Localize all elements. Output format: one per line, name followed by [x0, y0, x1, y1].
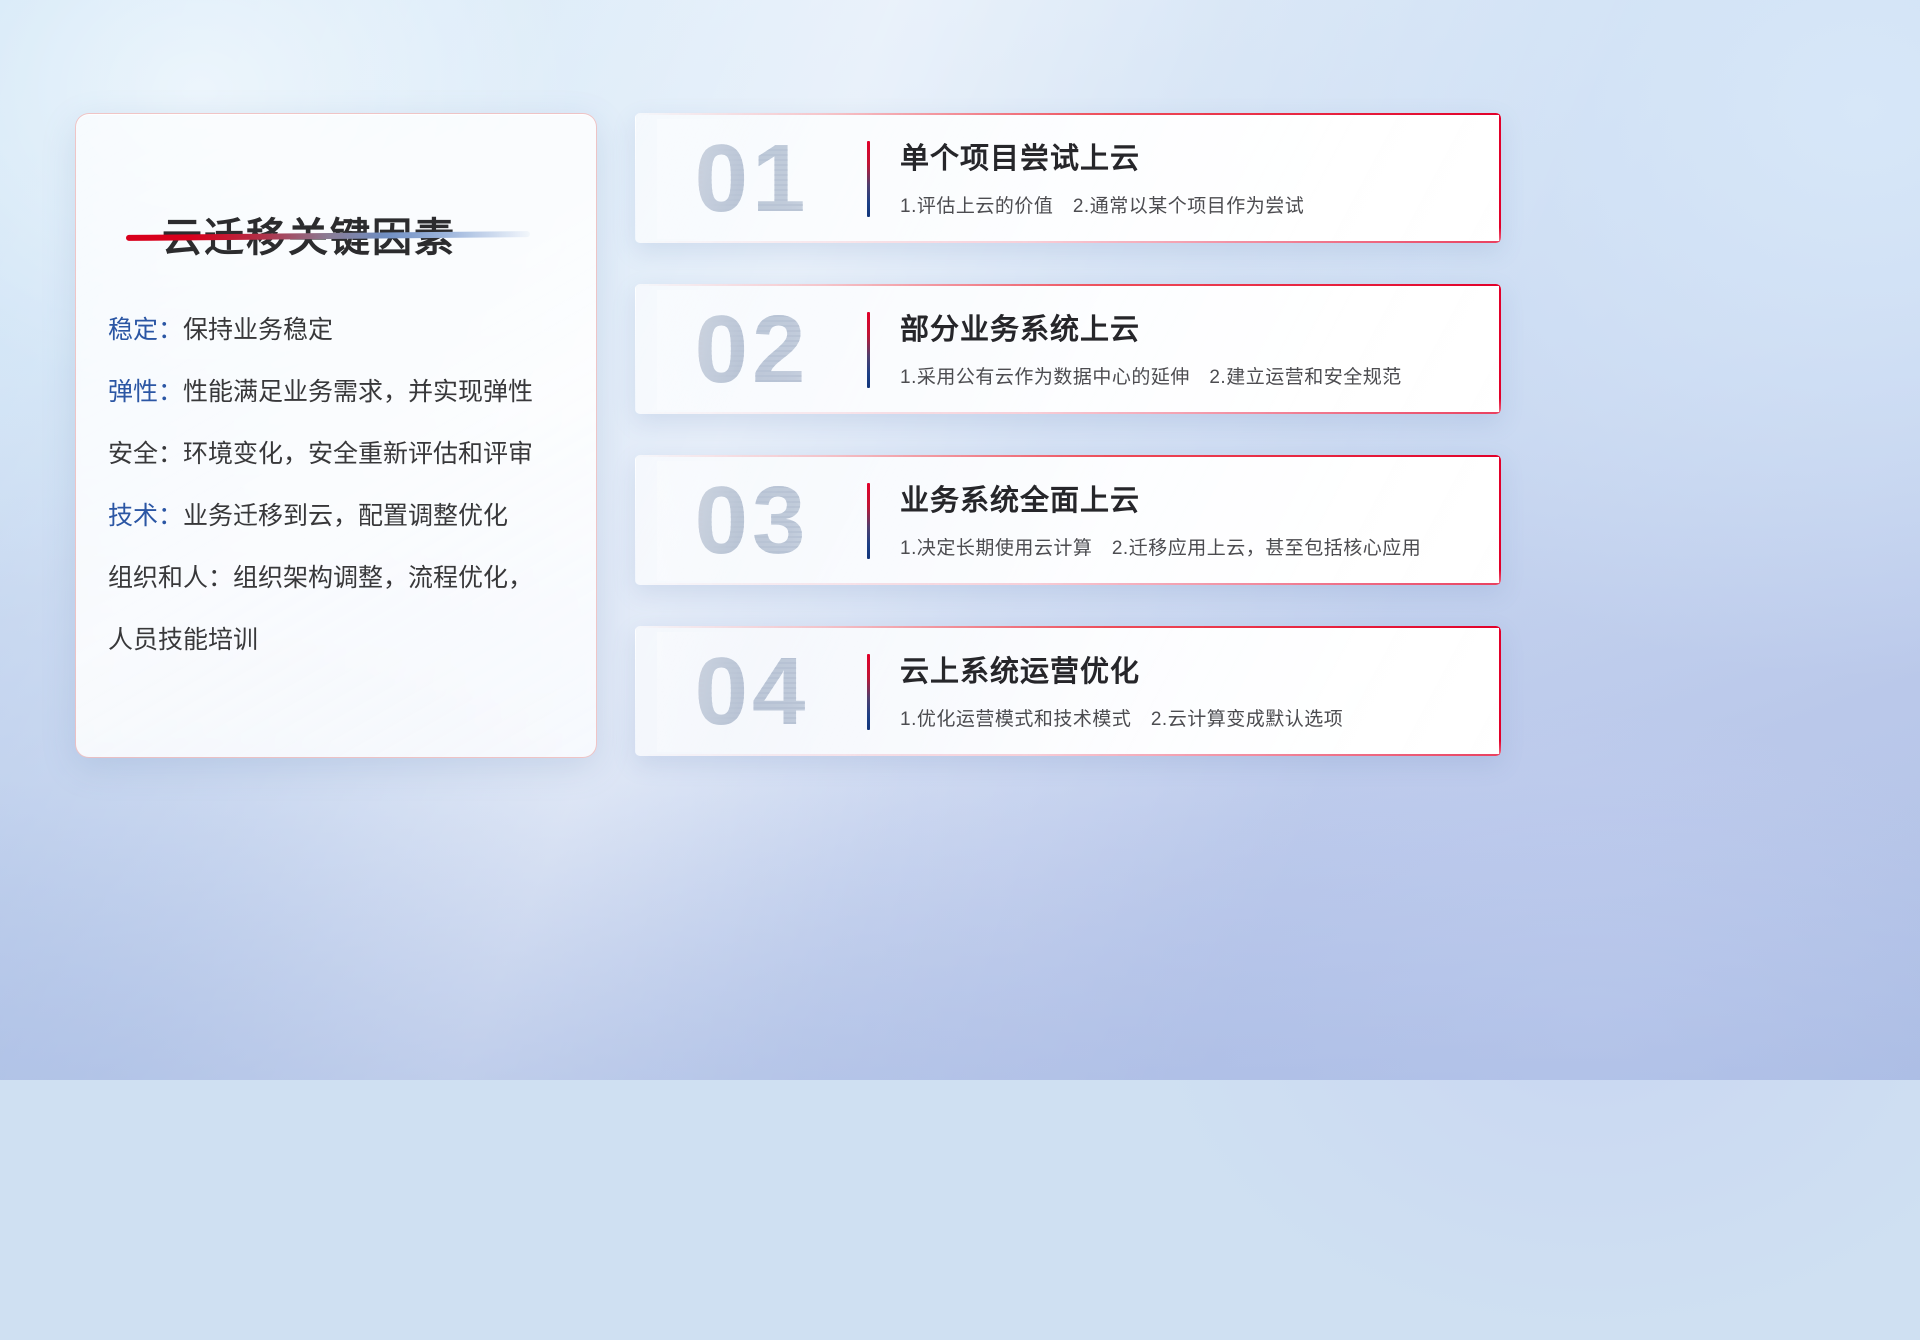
- card-top-accent: [635, 284, 1501, 286]
- list-item-text: 保持业务稳定: [183, 316, 333, 344]
- card-title: 单个项目尝试上云: [900, 135, 1140, 177]
- key-factors-panel: 云迁移关键因素 稳定：保持业务稳定 弹性：性能满足业务需求，并实现弹性 安全：环…: [75, 113, 597, 758]
- card-description: 1.采用公有云作为数据中心的延伸 2.建立运营和安全规范: [900, 362, 1402, 389]
- card-top-accent: [635, 455, 1501, 457]
- list-item-label: 组织和人：: [108, 564, 233, 592]
- list-item: 技术：业务迁移到云，配置调整优化: [108, 485, 574, 547]
- stage-card-02[interactable]: 02 部分业务系统上云 1.采用公有云作为数据中心的延伸 2.建立运营和安全规范: [635, 284, 1501, 414]
- card-bottom-accent: [635, 241, 1501, 243]
- stage-number-watermark: 02: [657, 290, 847, 410]
- list-item-label: 技术：: [108, 502, 183, 530]
- list-item-text: 性能满足业务需求，并实现弹性: [183, 378, 533, 406]
- stage-number-watermark: 03: [657, 461, 847, 581]
- card-title: 业务系统全面上云: [900, 477, 1140, 519]
- list-item-text: 环境变化，安全重新评估和评审: [183, 440, 533, 468]
- card-bottom-accent: [635, 412, 1501, 414]
- list-item: 组织和人：组织架构调整，流程优化，: [108, 547, 574, 609]
- list-item-label: 稳定：: [108, 316, 183, 344]
- list-item-text: 组织架构调整，流程优化，: [233, 564, 533, 592]
- stage-number-watermark: 01: [657, 119, 847, 239]
- stage-card-04[interactable]: 04 云上系统运营优化 1.优化运营模式和技术模式 2.云计算变成默认选项: [635, 626, 1501, 756]
- migration-stage-cards: 01 单个项目尝试上云 1.评估上云的价值 2.通常以某个项目作为尝试 02 部…: [635, 113, 1501, 797]
- stage-number-watermark: 04: [657, 632, 847, 752]
- list-item-label: 弹性：: [108, 378, 183, 406]
- card-right-accent: [1499, 113, 1501, 243]
- list-item: 安全：环境变化，安全重新评估和评审: [108, 423, 574, 485]
- card-title: 云上系统运营优化: [900, 648, 1140, 690]
- card-left-edge: [635, 626, 636, 756]
- card-right-accent: [1499, 626, 1501, 756]
- card-divider-bar: [867, 141, 870, 217]
- list-item-continuation: 人员技能培训: [108, 609, 574, 671]
- card-left-edge: [635, 284, 636, 414]
- card-bottom-accent: [635, 583, 1501, 585]
- list-item-text: 人员技能培训: [108, 626, 258, 654]
- stage-card-01[interactable]: 01 单个项目尝试上云 1.评估上云的价值 2.通常以某个项目作为尝试: [635, 113, 1501, 243]
- stage-card-03[interactable]: 03 业务系统全面上云 1.决定长期使用云计算 2.迁移应用上云，甚至包括核心应…: [635, 455, 1501, 585]
- background-bottom-band: [0, 780, 1920, 1080]
- card-right-accent: [1499, 455, 1501, 585]
- list-item-text: 业务迁移到云，配置调整优化: [183, 502, 508, 530]
- card-left-edge: [635, 113, 636, 243]
- card-divider-bar: [867, 654, 870, 730]
- list-item: 弹性：性能满足业务需求，并实现弹性: [108, 361, 574, 423]
- card-top-accent: [635, 626, 1501, 628]
- list-item-label: 安全：: [108, 440, 183, 468]
- card-description: 1.评估上云的价值 2.通常以某个项目作为尝试: [900, 191, 1304, 218]
- card-right-accent: [1499, 284, 1501, 414]
- card-divider-bar: [867, 312, 870, 388]
- card-divider-bar: [867, 483, 870, 559]
- card-description: 1.优化运营模式和技术模式 2.云计算变成默认选项: [900, 704, 1343, 731]
- key-factors-list: 稳定：保持业务稳定 弹性：性能满足业务需求，并实现弹性 安全：环境变化，安全重新…: [108, 299, 574, 671]
- card-description: 1.决定长期使用云计算 2.迁移应用上云，甚至包括核心应用: [900, 533, 1421, 560]
- card-left-edge: [635, 455, 636, 585]
- card-top-accent: [635, 113, 1501, 115]
- list-item: 稳定：保持业务稳定: [108, 299, 574, 361]
- card-bottom-accent: [635, 754, 1501, 756]
- card-title: 部分业务系统上云: [900, 306, 1140, 348]
